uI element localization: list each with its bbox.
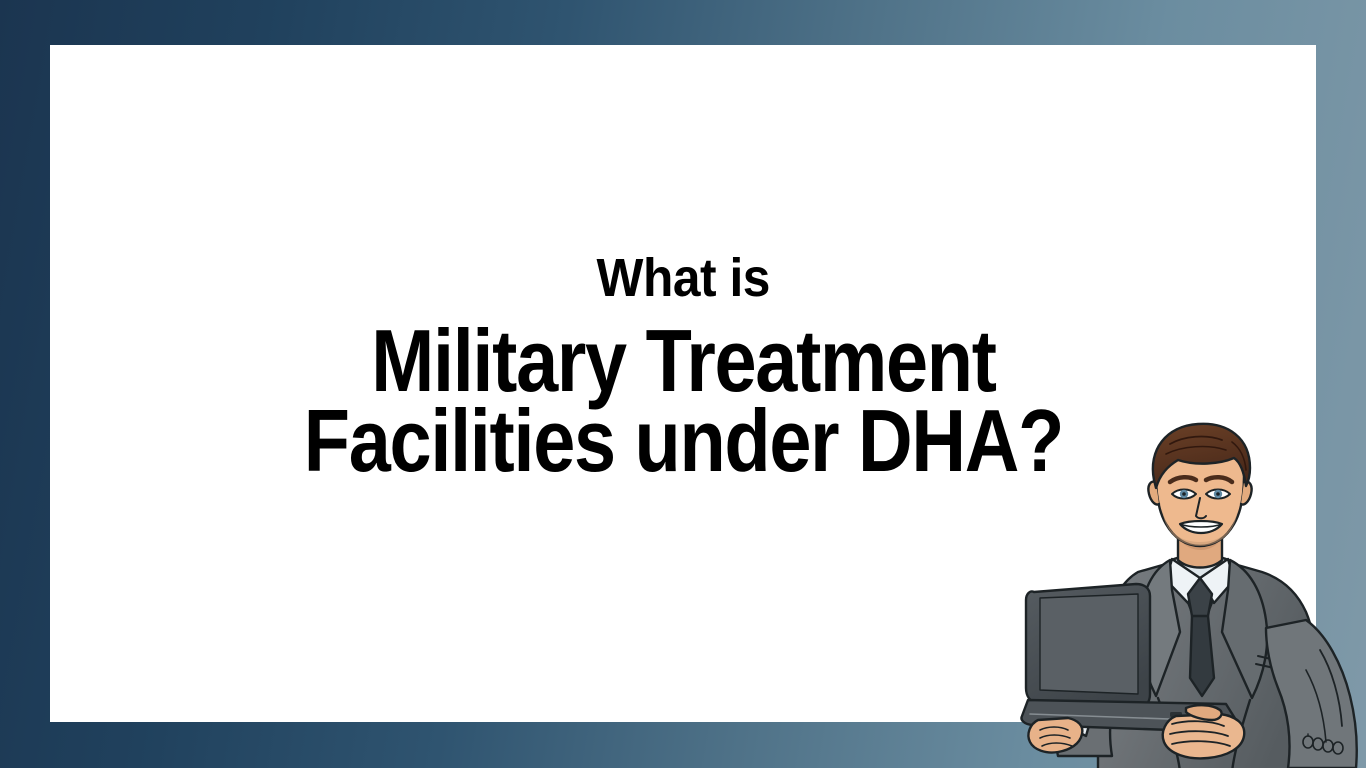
page-title-line-2: Facilities under DHA? [303, 401, 1062, 481]
content-card: What is Military Treatment Facilities un… [50, 45, 1316, 722]
title-block: What is Military Treatment Facilities un… [50, 45, 1316, 722]
title-eyebrow: What is [596, 247, 769, 309]
page-title-line-1: Military Treatment [303, 321, 1062, 401]
page-title: Military Treatment Facilities under DHA? [303, 321, 1062, 481]
slide-root: What is Military Treatment Facilities un… [0, 0, 1366, 768]
